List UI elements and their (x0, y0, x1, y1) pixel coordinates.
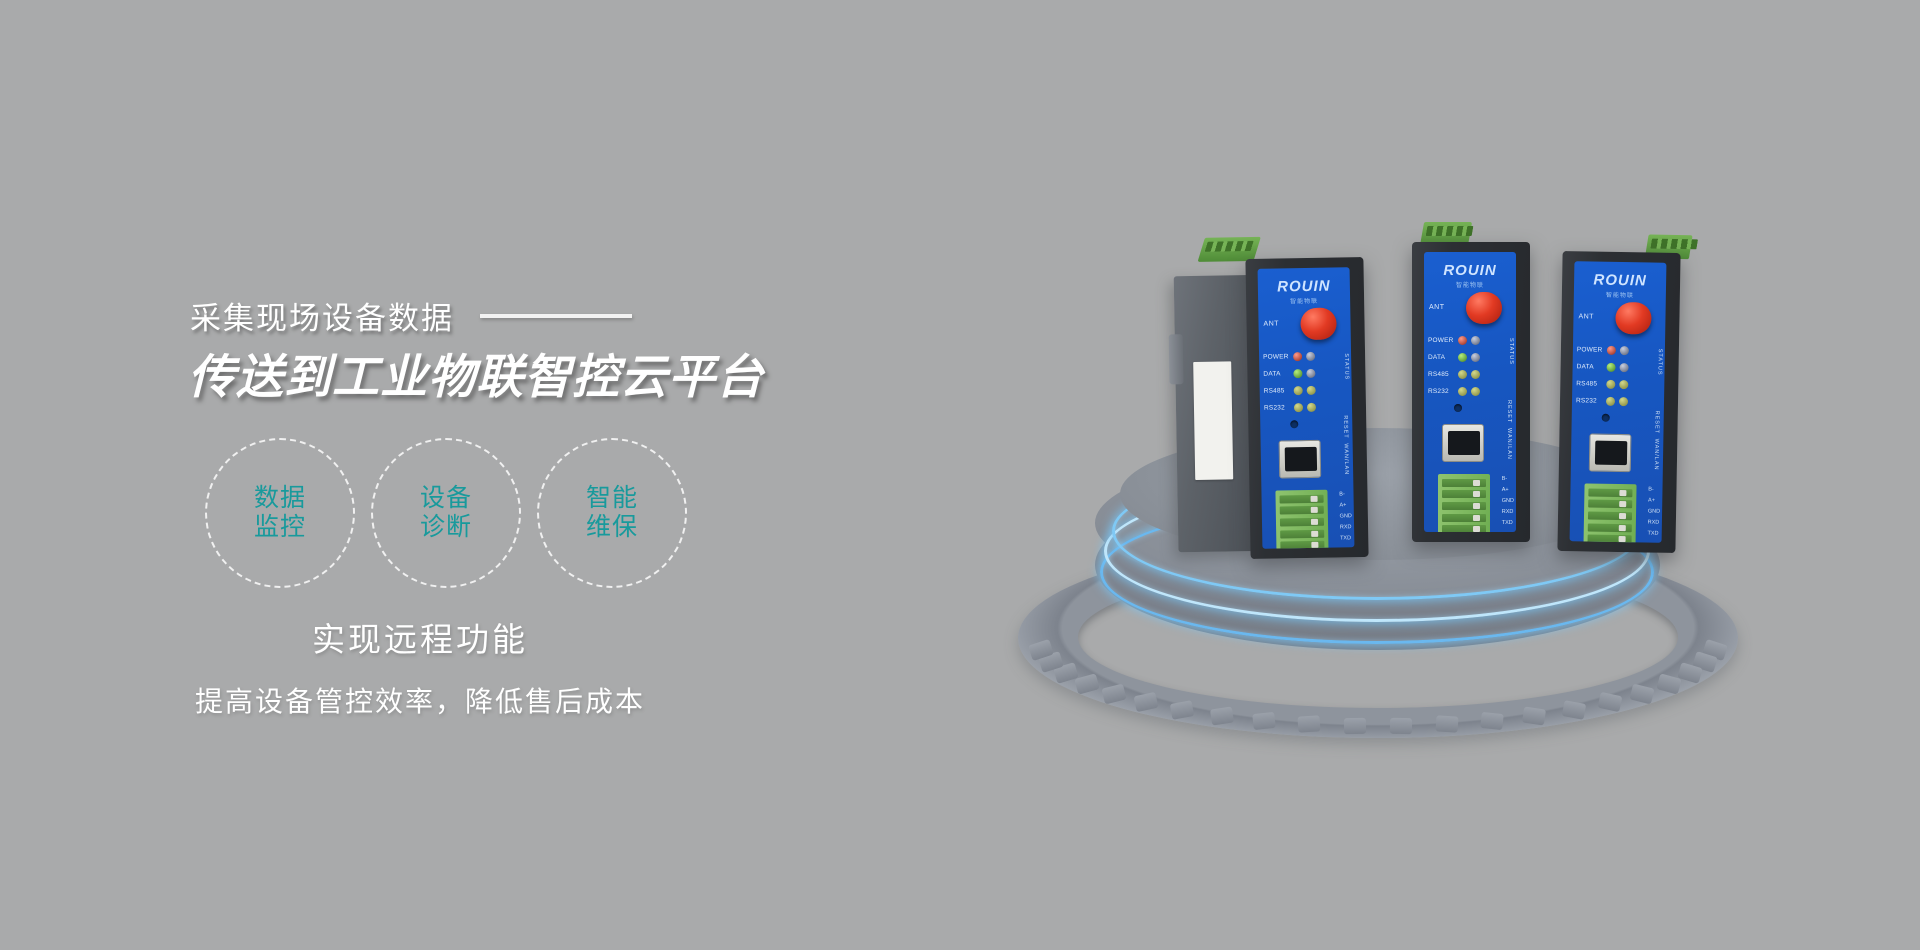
pedestal-gear-tooth (1562, 700, 1587, 720)
terminal-pin-label: TXD (1647, 531, 1659, 537)
led-rs485-icon (1606, 380, 1615, 389)
led-status2-icon (1620, 363, 1629, 372)
led-row-rs232: RS232 (1576, 392, 1660, 410)
led-status3-icon (1307, 386, 1316, 395)
led-label-data: DATA (1577, 363, 1603, 370)
gateway-device-center[interactable]: ROUIN 智能物联 ANT POWER DATA RS485 (1412, 242, 1530, 542)
led-rs232-icon (1458, 387, 1467, 396)
led-row-rs232: RS232 (1428, 383, 1512, 400)
led-label-data: DATA (1263, 370, 1289, 377)
terminal-pin-labels: B- A+ GND RXD TXD (1339, 491, 1352, 541)
reset-button[interactable] (1454, 404, 1462, 412)
led-power-icon (1607, 346, 1616, 355)
led-row-rs485: RS485 (1576, 375, 1660, 393)
lan-port-label: WAN/LAN (1506, 428, 1512, 460)
eyebrow-text: 采集现场设备数据 (190, 293, 454, 338)
ethernet-port (1279, 440, 1322, 479)
terminal-pin-label: TXD (1502, 520, 1514, 526)
hero-text-block: 采集现场设备数据 传送到工业物联智控云平台 数据 监控 设备 诊断 智能 维保 … (0, 0, 900, 950)
led-indicator-group: POWER DATA RS485 RS232 (1428, 332, 1512, 400)
led-status3-icon (1619, 380, 1628, 389)
led-status1-icon (1471, 336, 1480, 345)
terminal-pin-label: TXD (1340, 535, 1352, 541)
led-row-rs232: RS232 (1264, 398, 1348, 416)
ethernet-port (1589, 433, 1632, 472)
led-row-data: DATA (1428, 349, 1512, 366)
product-scene: ROUIN 智能物联 ANT POWER DATA RS485 (1000, 180, 1760, 740)
terminal-pin-label: B- (1339, 491, 1351, 497)
terminal-pin-labels: B- A+ GND RXD TXD (1502, 476, 1514, 526)
pedestal-gear-tooth (1297, 715, 1320, 732)
pedestal-gear-tooth (1344, 718, 1366, 734)
terminal-pin-label: RXD (1502, 509, 1514, 515)
device-front-panel: ROUIN 智能物联 ANT POWER DATA RS485 (1424, 252, 1516, 532)
led-label-data: DATA (1428, 354, 1454, 361)
subtitle-primary: 实现远程功能 (0, 613, 840, 661)
brand-subtitle: 智能物联 (1424, 280, 1516, 289)
brand-subtitle: 智能物联 (1574, 289, 1666, 300)
terminal-pin (1280, 495, 1324, 504)
pedestal-gear-tooth (1102, 683, 1127, 704)
terminal-pin-label: A+ (1502, 487, 1514, 493)
reset-label: RESET (1342, 415, 1348, 438)
terminal-pin (1442, 490, 1486, 498)
feature-label-line1: 智能 (586, 484, 638, 514)
led-indicator-group: POWER DATA RS485 RS232 (1576, 341, 1661, 410)
pedestal-gear-tooth (1133, 692, 1158, 712)
lan-port-label: WAN/LAN (1343, 443, 1350, 475)
eyebrow-row: 采集现场设备数据 (190, 293, 632, 338)
led-status1-icon (1620, 346, 1629, 355)
led-row-rs485: RS485 (1264, 381, 1348, 399)
terminal-pin (1280, 506, 1324, 515)
antenna-connector-cap (1466, 292, 1502, 324)
pedestal-gear-tooth (1075, 673, 1100, 694)
pedestal-gear-tooth (1598, 692, 1623, 712)
led-status4-icon (1619, 397, 1628, 406)
brand-logo: ROUIN (1424, 262, 1516, 279)
led-label-rs485: RS485 (1576, 380, 1602, 387)
led-row-power: POWER (1577, 341, 1661, 359)
led-label-power: POWER (1428, 337, 1454, 344)
terminal-pin-label: GND (1340, 513, 1352, 519)
led-label-power: POWER (1577, 346, 1603, 353)
brand-logo: ROUIN (1574, 271, 1666, 290)
pedestal-gear-tooth (1210, 707, 1234, 726)
led-label-rs232: RS232 (1576, 397, 1602, 404)
screw-terminal-block (1438, 474, 1490, 532)
led-label-rs485: RS485 (1428, 371, 1454, 378)
pedestal-gear-tooth (1480, 712, 1504, 730)
feature-circle-device-diagnosis[interactable]: 设备 诊断 (371, 438, 521, 588)
gateway-device-left[interactable]: ROUIN 智能物联 ANT POWER DATA RS485 (1245, 257, 1368, 559)
led-status1-icon (1306, 352, 1315, 361)
terminal-pin (1588, 511, 1632, 520)
reset-button[interactable] (1290, 420, 1298, 428)
led-data-icon (1607, 363, 1616, 372)
eyebrow-divider-rule (480, 314, 632, 318)
terminal-pin-label: GND (1648, 509, 1660, 515)
led-label-rs232: RS232 (1264, 404, 1290, 411)
led-status4-icon (1471, 387, 1480, 396)
screw-terminal-block (1583, 483, 1636, 542)
led-data-icon (1458, 353, 1467, 362)
led-indicator-group: POWER DATA RS485 RS232 (1263, 347, 1348, 416)
terminal-pin (1588, 500, 1632, 509)
terminal-pin (1442, 525, 1486, 532)
antenna-connector-cap (1300, 307, 1337, 340)
reset-label: RESET (1506, 400, 1512, 423)
antenna-connector-cap (1615, 302, 1652, 335)
feature-circle-group: 数据 监控 设备 诊断 智能 维保 (205, 438, 687, 588)
terminal-pin (1442, 479, 1486, 487)
terminal-pin (1442, 514, 1486, 522)
device-side-panel (1174, 275, 1255, 552)
reset-label: RESET (1653, 411, 1659, 434)
terminal-pin-labels: B- A+ GND RXD TXD (1647, 487, 1660, 537)
screw-terminal-block (1275, 490, 1328, 549)
pedestal-gear-tooth (1436, 715, 1459, 732)
led-row-data: DATA (1263, 364, 1347, 382)
led-label-rs485: RS485 (1264, 387, 1290, 394)
feature-label-line2: 监控 (254, 513, 306, 543)
terminal-pin (1588, 488, 1632, 497)
feature-label-line2: 诊断 (420, 513, 472, 543)
led-rs485-icon (1458, 370, 1467, 379)
led-status2-icon (1306, 369, 1315, 378)
led-status2-icon (1471, 353, 1480, 362)
terminal-pin-label: RXD (1340, 524, 1352, 530)
terminal-pin (1280, 529, 1324, 538)
terminal-pin (1588, 535, 1632, 543)
page-title: 传送到工业物联智控云平台 (188, 338, 764, 407)
pedestal-gear-tooth (1170, 700, 1195, 720)
led-power-icon (1458, 336, 1467, 345)
terminal-pin (1442, 502, 1486, 510)
feature-label-line2: 维保 (586, 513, 638, 543)
led-row-power: POWER (1428, 332, 1512, 349)
led-rs232-icon (1294, 403, 1303, 412)
led-row-power: POWER (1263, 347, 1347, 365)
terminal-pin-label: GND (1502, 498, 1514, 504)
status-label: STATUS (1508, 338, 1514, 365)
led-row-data: DATA (1576, 358, 1660, 376)
terminal-pin-label: A+ (1339, 502, 1351, 508)
pedestal-gear-tooth (1522, 707, 1546, 726)
ethernet-port (1442, 424, 1484, 462)
led-status3-icon (1471, 370, 1480, 379)
led-row-rs485: RS485 (1428, 366, 1512, 383)
lan-port-label: WAN/LAN (1653, 439, 1660, 471)
feature-circle-smart-maintenance[interactable]: 智能 维保 (537, 438, 687, 588)
led-rs232-icon (1606, 397, 1615, 406)
led-data-icon (1293, 369, 1302, 378)
brand-subtitle: 智能物联 (1258, 295, 1350, 306)
terminal-pin (1280, 541, 1324, 549)
terminal-pin (1280, 518, 1324, 527)
led-rs485-icon (1294, 386, 1303, 395)
pedestal-gear-tooth (1629, 683, 1654, 704)
reset-button[interactable] (1602, 414, 1610, 422)
device-spec-label (1193, 361, 1233, 480)
led-label-power: POWER (1263, 353, 1289, 360)
device-front-panel: ROUIN 智能物联 ANT POWER DATA RS485 (1570, 261, 1667, 543)
terminal-pin (1588, 523, 1632, 532)
antenna-label: ANT (1263, 320, 1279, 327)
led-label-rs232: RS232 (1428, 388, 1454, 395)
feature-circle-data-monitoring[interactable]: 数据 监控 (205, 438, 355, 588)
din-rail-clip (1169, 334, 1184, 384)
terminal-pin-label: RXD (1648, 520, 1660, 526)
status-label: STATUS (1656, 349, 1662, 376)
feature-label-line1: 数据 (254, 484, 306, 514)
terminal-pin-label: A+ (1648, 498, 1660, 504)
terminal-pin-label: B- (1648, 487, 1660, 493)
device-front-panel: ROUIN 智能物联 ANT POWER DATA RS485 (1258, 267, 1355, 549)
terminal-pin-label: B- (1502, 476, 1514, 482)
pedestal-gear-tooth (1252, 712, 1276, 730)
led-power-icon (1293, 352, 1302, 361)
gateway-device-right[interactable]: ROUIN 智能物联 ANT POWER DATA RS485 (1557, 251, 1680, 553)
antenna-label: ANT (1429, 304, 1445, 311)
subtitle-secondary: 提高设备管控效率，降低售后成本 (0, 680, 840, 720)
antenna-label: ANT (1578, 313, 1594, 320)
feature-label-line1: 设备 (420, 484, 472, 514)
status-label: STATUS (1343, 353, 1349, 380)
pedestal-gear-tooth (1390, 718, 1412, 734)
brand-logo: ROUIN (1258, 277, 1350, 296)
led-status4-icon (1307, 403, 1316, 412)
